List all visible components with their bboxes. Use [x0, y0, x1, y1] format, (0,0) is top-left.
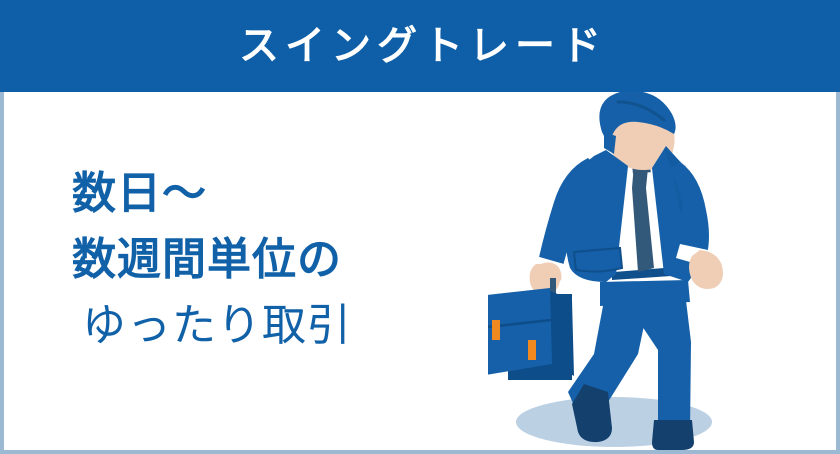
caption-block: 数日〜 数週間単位の ゆったり取引 — [72, 172, 492, 348]
caption-line-1: 数日〜 — [72, 172, 492, 216]
caption-line-2: 数週間単位の — [72, 238, 492, 282]
briefcase-buckle-2 — [528, 340, 536, 360]
page-title: スイングトレード — [233, 26, 607, 66]
right-hand — [689, 250, 723, 289]
hip-shade — [600, 280, 690, 306]
header-banner: スイングトレード — [0, 0, 840, 92]
businessman-illustration — [488, 92, 840, 454]
caption-line-3: ゆったり取引 — [82, 304, 492, 348]
jacket-pocket-icon — [574, 248, 622, 272]
briefcase-buckle-1 — [492, 320, 500, 340]
swing-trade-info-card: スイングトレード 数日〜 数週間単位の ゆったり取引 — [0, 0, 840, 454]
right-shoe-icon — [652, 420, 694, 450]
